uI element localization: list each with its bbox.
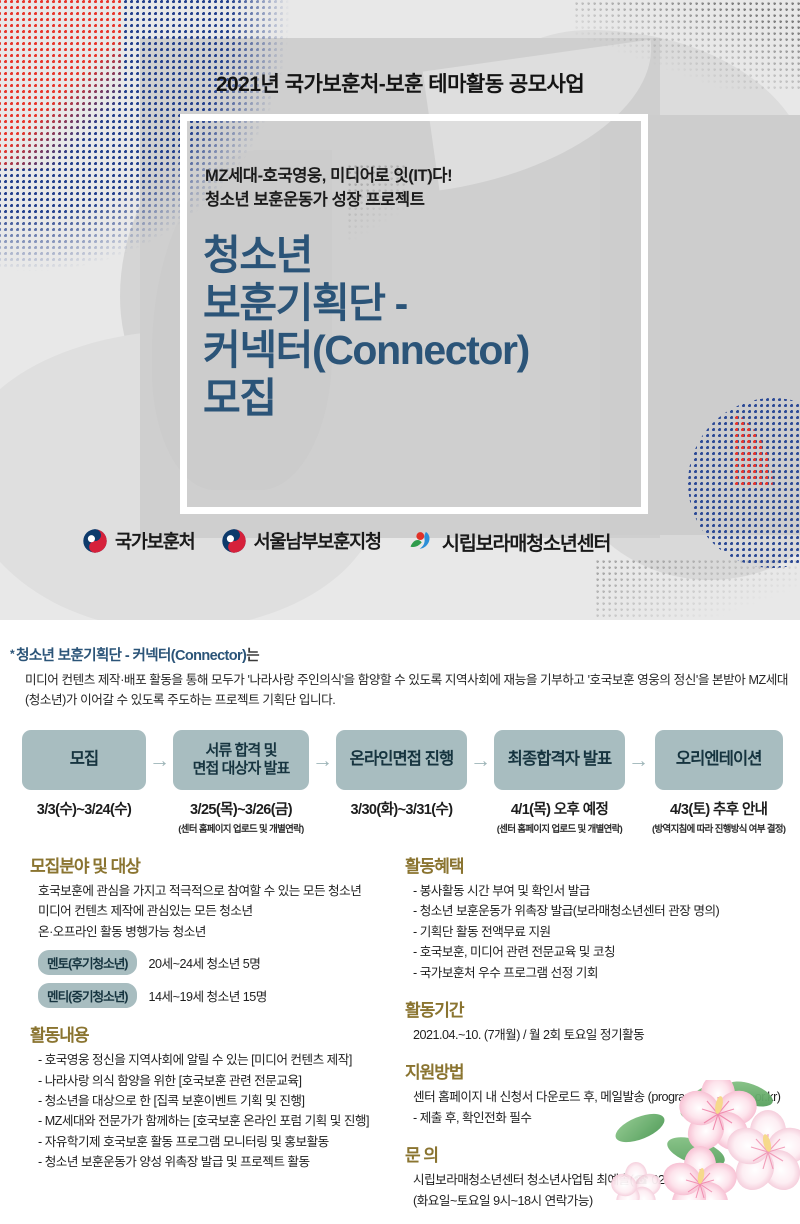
right-section-2: 활동기간2021.04.~10. (7개월) / 월 2회 토요일 정기활동: [405, 996, 795, 1045]
main-title-line-1: 청소년: [203, 232, 663, 280]
kicker-line-1: MZ세대-호국영웅, 미디어로 잇(IT)다!: [205, 165, 645, 189]
timeline-arrow-icon: →: [470, 750, 491, 771]
poster-kicker: MZ세대-호국영웅, 미디어로 잇(IT)다! 청소년 보훈운동가 성장 프로젝…: [205, 165, 645, 213]
halftone-circle-red-icon: [735, 398, 800, 486]
content-columns: 모집분야 및 대상호국보훈에 관심을 가지고 적극적으로 참여할 수 있는 모든…: [0, 852, 800, 1200]
poster-supertitle: 2021년 국가보훈처-보훈 테마활동 공모사업: [0, 68, 800, 98]
timeline-step-5: 오리엔테이션4/3(토) 추후 안내(방역지침에 따라 진행방식 여부 결정): [652, 730, 785, 835]
section-line: 호국보훈에 관심을 가지고 적극적으로 참여할 수 있는 모든 청소년: [38, 881, 412, 901]
left-section-2: 활동내용- 호국영웅 정신을 지역사회에 알릴 수 있는 [미디어 컨텐츠 제작…: [30, 1021, 412, 1172]
right-section-4: 문 의시립보라매청소년센터 청소년사업팀 최예솔(☎ 02-834-7233,4…: [405, 1141, 795, 1211]
section-title: 지원방법: [405, 1058, 795, 1083]
main-title-line-2: 보훈기획단 -: [203, 280, 663, 328]
section-line: - 청소년 보훈운동가 위촉장 발급(보라매청소년센터 관장 명의): [413, 901, 795, 921]
section-line: - 기획단 활동 전액무료 지원: [413, 922, 795, 942]
poster-main-title: 청소년보훈기획단 -커넥터(Connector)모집: [203, 232, 663, 422]
timeline-step-label: 최종합격자 발표: [494, 730, 625, 790]
logo-1: 국가보훈처: [82, 528, 195, 554]
intro-body-text: 미디어 컨텐츠 제작·배포 활동을 통해 모두가 '나라사랑 주인의식'을 함양…: [25, 670, 795, 711]
section-line: - 국가보훈처 우수 프로그램 선정 기회: [413, 963, 795, 983]
main-title-line-4: 모집: [203, 375, 663, 423]
timeline-step-label: 모집: [22, 730, 146, 790]
target-badge-value: 14세~19세 청소년 15명: [149, 986, 267, 1005]
logo-3: 시립보라매청소년센터: [407, 527, 610, 556]
intro-headline: *청소년 보훈기획단 - 커넥터(Connector)는: [10, 644, 795, 665]
logo-label: 시립보라매청소년센터: [442, 527, 610, 556]
section-line: - 청소년을 대상으로 한 [집콕 보훈이벤트 기획 및 진행]: [38, 1091, 412, 1111]
poster-header: 2021년 국가보훈처-보훈 테마활동 공모사업 MZ세대-호국영웅, 미디어로…: [0, 0, 800, 620]
section-line: - 호국영웅 정신을 지역사회에 알릴 수 있는 [미디어 컨텐츠 제작]: [38, 1050, 412, 1070]
left-column: 모집분야 및 대상호국보훈에 관심을 가지고 적극적으로 참여할 수 있는 모든…: [30, 852, 412, 1186]
left-section-1: 모집분야 및 대상호국보훈에 관심을 가지고 적극적으로 참여할 수 있는 모든…: [30, 852, 412, 1008]
target-badge: 멘티(중기청소년): [38, 983, 137, 1008]
timeline-arrow-icon: →: [149, 750, 170, 771]
timeline-step-date: 3/3(수)~3/24(수): [37, 798, 131, 819]
halftone-dots-grey-icon: [596, 560, 800, 620]
kicker-line-2: 청소년 보훈운동가 성장 프로젝트: [205, 189, 645, 213]
timeline-step-date: 3/25(목)~3/26(금): [190, 798, 292, 819]
section-line: - MZ세대와 전문가가 함께하는 [호국보훈 온라인 포럼 기획 및 진행]: [38, 1111, 412, 1131]
timeline-arrow-icon: →: [628, 750, 649, 771]
section-title: 문 의: [405, 1141, 795, 1166]
section-line: - 봉사활동 시간 부여 및 확인서 발급: [413, 881, 795, 901]
intro-headline-tail: 는: [246, 648, 259, 664]
target-badge-row: 멘티(중기청소년)14세~19세 청소년 15명: [38, 983, 412, 1008]
target-badge-value: 20세~24세 청소년 5명: [149, 953, 261, 972]
intro-section: *청소년 보훈기획단 - 커넥터(Connector)는 미디어 컨텐츠 제작·…: [10, 644, 795, 711]
section-line: 미디어 컨텐츠 제작에 관심있는 모든 청소년: [38, 901, 412, 921]
logo-2: 서울남부보훈지청: [221, 528, 381, 554]
logo-label: 서울남부보훈지청: [254, 528, 381, 554]
right-column: 활동혜택- 봉사활동 시간 부여 및 확인서 발급- 청소년 보훈운동가 위촉장…: [405, 852, 795, 1224]
timeline-step-date: 3/30(화)~3/31(수): [351, 798, 453, 819]
timeline-step-date: 4/3(토) 추후 안내: [670, 798, 767, 819]
section-line: 시립보라매청소년센터 청소년사업팀 최예솔(☎ 02-834-7233,4): [413, 1170, 795, 1190]
intro-headline-text: 청소년 보훈기획단 - 커넥터(Connector): [16, 648, 246, 664]
section-line: - 자유학기제 호국보훈 활동 프로그램 모니터링 및 홍보활동: [38, 1132, 412, 1152]
timeline-step-note: (방역지침에 따라 진행방식 여부 결정): [652, 821, 785, 835]
taegeuk-icon: [221, 528, 247, 554]
timeline-step-label: 서류 합격 및면접 대상자 발표: [173, 730, 309, 790]
timeline-step-note: (센터 홈페이지 업로드 및 개별연락): [178, 821, 303, 835]
section-line: - 나라사랑 의식 함양을 위한 [호국보훈 관련 전문교육]: [38, 1071, 412, 1091]
section-title: 모집분야 및 대상: [30, 852, 412, 877]
timeline-step-3: 온라인면접 진행3/30(화)~3/31(수): [336, 730, 467, 819]
target-badge-row: 멘토(후기청소년)20세~24세 청소년 5명: [38, 950, 412, 975]
logo-label: 국가보훈처: [115, 528, 195, 554]
target-badge: 멘토(후기청소년): [38, 950, 137, 975]
timeline-step-label: 오리엔테이션: [655, 730, 783, 790]
right-section-1: 활동혜택- 봉사활동 시간 부여 및 확인서 발급- 청소년 보훈운동가 위촉장…: [405, 852, 795, 983]
boramae-bird-icon: [407, 527, 435, 555]
section-line: 2021.04.~10. (7개월) / 월 2회 토요일 정기활동: [413, 1025, 795, 1045]
section-line: (화요일~토요일 9시~18시 연락가능): [413, 1191, 795, 1211]
section-line: - 청소년 보훈운동가 양성 위촉장 발급 및 프로젝트 활동: [38, 1152, 412, 1172]
taegeuk-icon: [82, 528, 108, 554]
section-title: 활동기간: [405, 996, 795, 1021]
section-title: 활동내용: [30, 1021, 412, 1046]
section-title: 활동혜택: [405, 852, 795, 877]
right-section-3: 지원방법센터 홈페이지 내 신청서 다운로드 후, 메일발송 (program@…: [405, 1058, 795, 1128]
process-timeline: 모집3/3(수)~3/24(수)→서류 합격 및면접 대상자 발표3/25(목)…: [22, 730, 782, 835]
section-line: 센터 홈페이지 내 신청서 다운로드 후, 메일발송 (program@bora…: [413, 1087, 795, 1107]
section-line: 온·오프라인 활동 병행가능 청소년: [38, 922, 412, 942]
timeline-step-2: 서류 합격 및면접 대상자 발표3/25(목)~3/26(금)(센터 홈페이지 …: [173, 730, 309, 835]
section-line: - 제출 후, 확인전화 필수: [413, 1108, 795, 1128]
timeline-step-date: 4/1(목) 오후 예정: [511, 798, 608, 819]
timeline-step-note: (센터 홈페이지 업로드 및 개별연락): [497, 821, 622, 835]
timeline-step-1: 모집3/3(수)~3/24(수): [22, 730, 146, 819]
main-title-line-3: 커넥터(Connector): [203, 327, 663, 375]
section-line: - 호국보훈, 미디어 관련 전문교육 및 코칭: [413, 942, 795, 962]
logo-row: 국가보훈처서울남부보훈지청시립보라매청소년센터: [0, 518, 800, 564]
timeline-step-4: 최종합격자 발표4/1(목) 오후 예정(센터 홈페이지 업로드 및 개별연락): [494, 730, 625, 835]
timeline-arrow-icon: →: [312, 750, 333, 771]
asterisk-icon: *: [10, 647, 14, 661]
timeline-step-label: 온라인면접 진행: [336, 730, 467, 790]
